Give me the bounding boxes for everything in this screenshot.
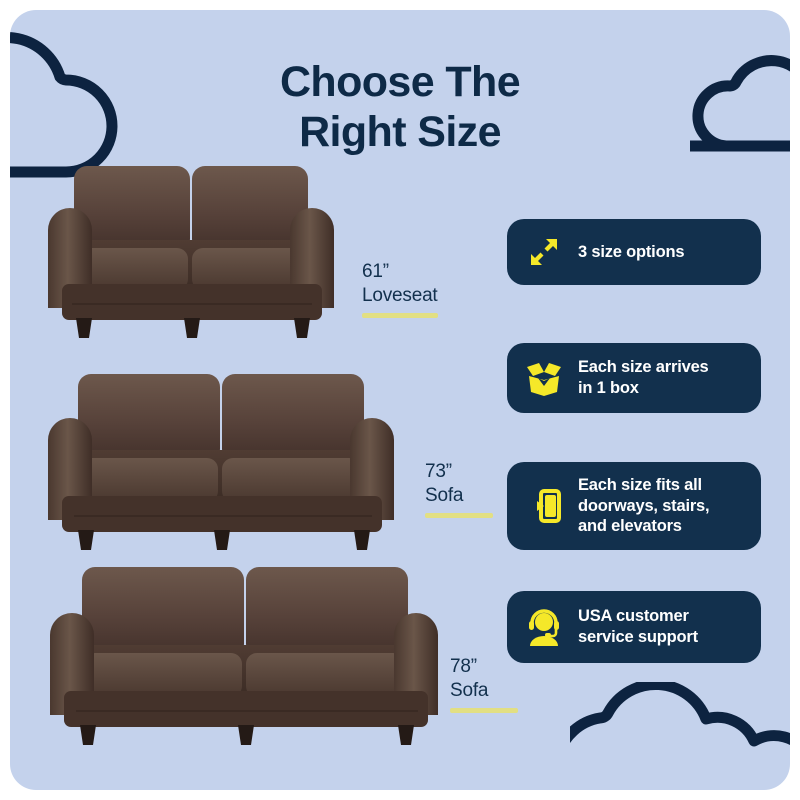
size-label-measure: 78” — [450, 655, 518, 679]
page-title-line-2: Right Size — [10, 107, 790, 157]
size-label-underline — [362, 313, 438, 318]
door-arrow-icon — [523, 485, 565, 527]
size-label-name: Loveseat — [362, 284, 438, 308]
feature-badge-fits-doorways[interactable]: Each size fits all doorways, stairs, and… — [507, 462, 761, 550]
expand-arrows-icon — [523, 231, 565, 273]
badge-line-2: doorways, stairs, — [578, 496, 709, 517]
product-image-sofa-73 — [32, 362, 424, 562]
size-label-measure: 61” — [362, 260, 438, 284]
badge-line-1: Each size arrives — [578, 357, 709, 378]
badge-line-1: 3 size options — [578, 242, 684, 263]
open-box-icon — [523, 357, 565, 399]
size-label-underline — [450, 708, 518, 713]
feature-badge-text: 3 size options — [578, 242, 684, 263]
size-label-name: Sofa — [425, 484, 493, 508]
feature-badge-size-options[interactable]: 3 size options — [507, 219, 761, 285]
feature-badge-usa-support[interactable]: USA customer service support — [507, 591, 761, 663]
badge-line-1: USA customer — [578, 606, 698, 627]
size-label-sofa-73: 73” Sofa — [425, 460, 493, 518]
product-image-loveseat — [32, 152, 362, 352]
feature-badge-one-box[interactable]: Each size arrives in 1 box — [507, 343, 761, 413]
badge-line-1: Each size fits all — [578, 475, 709, 496]
cloud-outline-icon — [570, 682, 790, 790]
headset-agent-icon — [523, 606, 565, 648]
size-label-measure: 73” — [425, 460, 493, 484]
badge-line-2: service support — [578, 627, 698, 648]
size-label-underline — [425, 513, 493, 518]
size-label-loveseat: 61” Loveseat — [362, 260, 438, 318]
badge-line-3: and elevators — [578, 516, 709, 537]
size-label-sofa-78: 78” Sofa — [450, 655, 518, 713]
feature-badge-text: Each size fits all doorways, stairs, and… — [578, 475, 709, 537]
product-image-sofa-78 — [32, 555, 472, 755]
badge-line-2: in 1 box — [578, 378, 709, 399]
feature-badge-text: Each size arrives in 1 box — [578, 357, 709, 399]
infographic-card: Choose The Right Size — [10, 10, 790, 790]
size-label-name: Sofa — [450, 679, 518, 703]
page-title: Choose The Right Size — [10, 57, 790, 158]
page-title-line-1: Choose The — [10, 57, 790, 107]
feature-badge-text: USA customer service support — [578, 606, 698, 648]
